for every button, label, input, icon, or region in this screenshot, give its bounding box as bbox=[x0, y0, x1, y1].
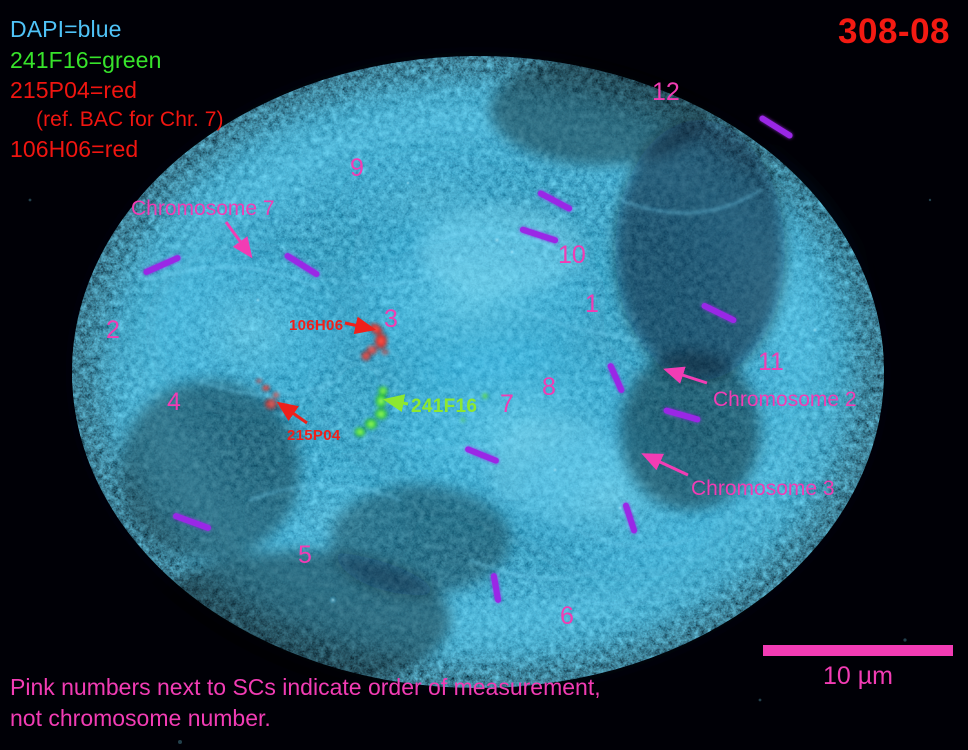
slide-id-label: 308-08 bbox=[838, 12, 950, 52]
callout-chromosome-2: Chromosome 2 bbox=[713, 389, 857, 410]
order-number-3: 3 bbox=[384, 307, 398, 332]
sc-tick-5 bbox=[701, 302, 738, 324]
order-number-9: 9 bbox=[350, 156, 364, 181]
sc-tick-0 bbox=[143, 254, 182, 276]
chromosome-3-arrow bbox=[645, 455, 688, 475]
legend-line-1: 241F16=green bbox=[10, 45, 224, 76]
order-number-2: 2 bbox=[106, 318, 120, 343]
order-number-6: 6 bbox=[560, 604, 574, 629]
probe-106h06-arrow bbox=[345, 323, 372, 329]
scale-bar bbox=[763, 645, 953, 656]
probe-label-106h06: 106H06 bbox=[289, 318, 343, 333]
order-number-11: 11 bbox=[758, 350, 784, 375]
order-number-5: 5 bbox=[298, 543, 312, 568]
scale-bar-label: 10 µm bbox=[763, 662, 953, 691]
order-number-4: 4 bbox=[167, 390, 181, 415]
sc-tick-11 bbox=[490, 573, 501, 604]
figure-caption: Pink numbers next to SCs indicate order … bbox=[10, 672, 601, 734]
red-signal-215p04 bbox=[255, 378, 288, 411]
callout-chromosome-3: Chromosome 3 bbox=[691, 478, 835, 499]
probe-label-215p04: 215P04 bbox=[287, 428, 341, 443]
caption-line-2: not chromosome number. bbox=[10, 703, 601, 734]
legend-line-4: 106H06=red bbox=[10, 134, 224, 165]
probe-label-241f16: 241F16 bbox=[411, 397, 477, 416]
chromosome-7-arrow bbox=[226, 222, 250, 255]
micrograph-viewport: DAPI=blue241F16=green215P04=red(ref. BAC… bbox=[0, 0, 968, 750]
legend-line-0: DAPI=blue bbox=[10, 14, 224, 45]
sc-tick-3 bbox=[519, 226, 559, 244]
channel-legend: DAPI=blue241F16=green215P04=red(ref. BAC… bbox=[10, 14, 224, 164]
chromosome-2-arrow bbox=[667, 370, 707, 383]
sc-tick-7 bbox=[663, 407, 701, 423]
legend-line-2: 215P04=red bbox=[10, 75, 224, 106]
order-number-1: 1 bbox=[585, 292, 599, 317]
sc-tick-10 bbox=[622, 502, 638, 534]
order-number-8: 8 bbox=[542, 375, 556, 400]
probe-241f16-arrow bbox=[387, 400, 408, 404]
sc-tick-4 bbox=[758, 114, 793, 139]
sc-tick-8 bbox=[464, 445, 500, 464]
caption-line-1: Pink numbers next to SCs indicate order … bbox=[10, 672, 601, 703]
callout-chromosome-7: Chromosome 7 bbox=[131, 198, 275, 219]
order-number-10: 10 bbox=[558, 243, 586, 268]
probe-215p04-arrow bbox=[280, 404, 307, 423]
order-number-12: 12 bbox=[652, 80, 680, 105]
legend-line-3: (ref. BAC for Chr. 7) bbox=[10, 106, 224, 134]
sc-tick-2 bbox=[537, 189, 573, 212]
sc-tick-6 bbox=[607, 362, 625, 394]
order-number-7: 7 bbox=[500, 392, 514, 417]
sc-tick-9 bbox=[172, 512, 212, 531]
sc-tick-1 bbox=[283, 252, 320, 278]
